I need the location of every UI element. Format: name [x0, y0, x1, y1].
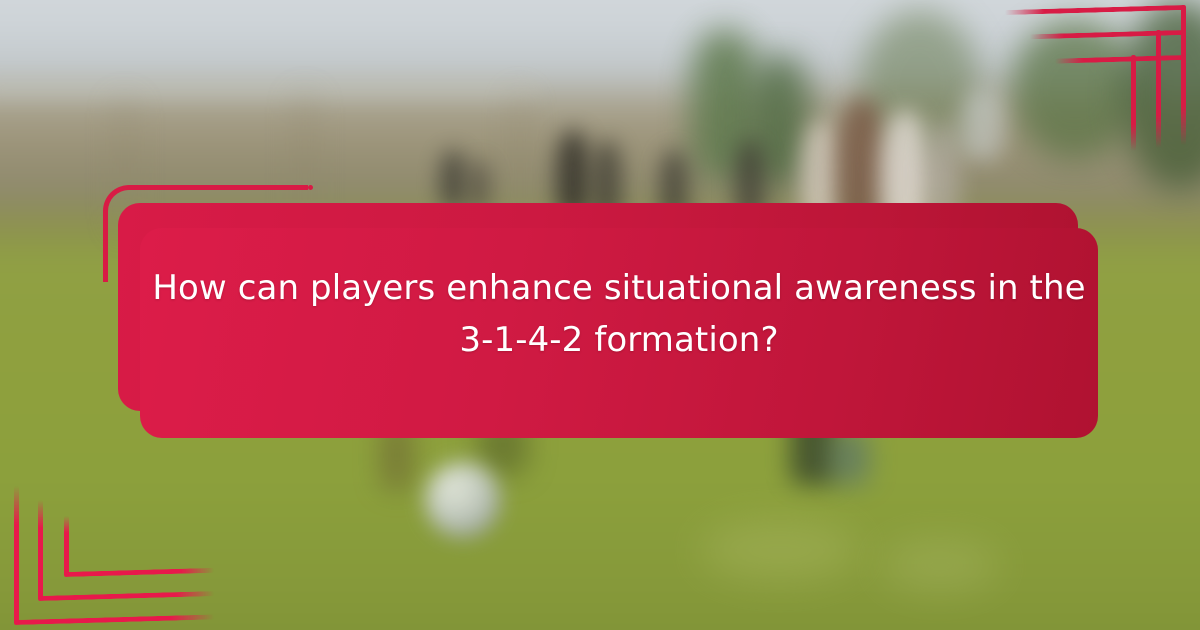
- foreground-leg-blur: [830, 430, 870, 485]
- goal-crossbar-blur: [0, 80, 540, 96]
- grass-highlight: [700, 520, 860, 580]
- player-blur: [440, 150, 466, 210]
- player-blur: [960, 90, 1004, 160]
- social-card-canvas: How can players enhance situational awar…: [0, 0, 1200, 630]
- soccer-ball-blur: [425, 462, 501, 538]
- headline-text: How can players enhance situational awar…: [148, 262, 1090, 366]
- grass-highlight: [880, 540, 1000, 590]
